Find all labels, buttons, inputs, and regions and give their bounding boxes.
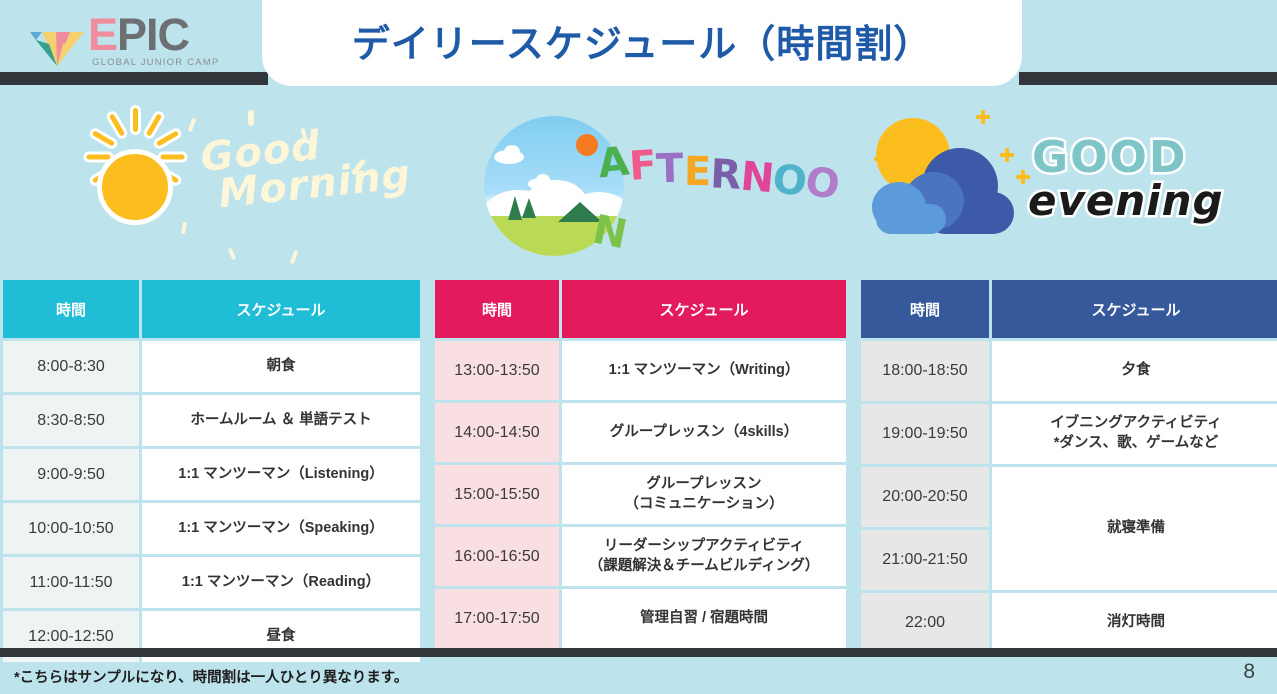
- table-row: 8:00-8:30朝食: [3, 341, 420, 392]
- cell-time: 20:00-20:50: [861, 467, 989, 527]
- cell-time: 16:00-16:50: [435, 527, 559, 586]
- cell-schedule: イブニングアクティビティ*ダンス、歌、ゲームなど: [992, 404, 1277, 464]
- cell-time: 15:00-15:50: [435, 465, 559, 524]
- page-title: デイリースケジュール（時間割）: [352, 13, 932, 86]
- footer-note: *こちらはサンプルになり、時間割は一人ひとり異なります。: [14, 666, 408, 687]
- table-row: 18:00-18:50夕食: [861, 341, 1277, 401]
- afternoon-letter: E: [683, 149, 711, 195]
- header-rule-left: [0, 72, 268, 85]
- cell-time: 13:00-13:50: [435, 341, 559, 400]
- cell-time: 9:00-9:50: [3, 449, 139, 500]
- header-rule-right: [1019, 72, 1277, 85]
- cell-schedule: 1:1 マンツーマン（Reading）: [142, 557, 420, 608]
- column-header-time: 時間: [861, 280, 989, 338]
- afternoon-letter: R: [709, 151, 742, 198]
- table-row: 22:00消灯時間: [861, 593, 1277, 653]
- cell-schedule: ホームルーム ＆ 単語テスト: [142, 395, 420, 446]
- table-row: 15:00-15:50グループレッスン（コミュニケーション）: [435, 465, 846, 524]
- cell-time: 8:00-8:30: [3, 341, 139, 392]
- afternoon-letter: F: [628, 142, 658, 190]
- column-header-schedule: スケジュール: [142, 280, 420, 338]
- cell-schedule: 1:1 マンツーマン（Writing）: [562, 341, 846, 400]
- evening-table-body: 18:00-18:50夕食19:00-19:50イブニングアクティビティ*ダンス…: [861, 341, 1277, 653]
- cell-schedule: グループレッスン（4skills）: [562, 403, 846, 462]
- table-row: 19:00-19:50イブニングアクティビティ*ダンス、歌、ゲームなど: [861, 404, 1277, 464]
- footer-rule: [0, 648, 1277, 657]
- cell-schedule: グループレッスン（コミュニケーション）: [562, 465, 846, 524]
- title-card: デイリースケジュール（時間割）: [262, 0, 1022, 86]
- afternoon-table-body: 13:00-13:501:1 マンツーマン（Writing）14:00-14:5…: [435, 341, 846, 648]
- morning-table-body: 8:00-8:30朝食8:30-8:50ホームルーム ＆ 単語テスト9:00-9…: [3, 341, 420, 662]
- epic-logo: EPIC GLOBAL JUNIOR CAMP: [28, 14, 208, 72]
- cell-schedule: 朝食: [142, 341, 420, 392]
- table-row: 11:00-11:501:1 マンツーマン（Reading）: [3, 557, 420, 608]
- cell-time: 14:00-14:50: [435, 403, 559, 462]
- morning-artwork: Good Morning: [30, 100, 420, 272]
- table-header-row: 時間 スケジュール: [861, 280, 1277, 338]
- brand-letter-e: E: [88, 9, 117, 60]
- table-header-row: 時間 スケジュール: [3, 280, 420, 338]
- cell-schedule: 1:1 マンツーマン（Listening）: [142, 449, 420, 500]
- cell-schedule: 管理自習 / 宿題時間: [562, 589, 846, 648]
- moon-cloud-icon: [860, 100, 1040, 260]
- cell-time: 21:00-21:50: [861, 530, 989, 590]
- cell-schedule: 就寝準備: [992, 467, 1277, 590]
- cell-time: 18:00-18:50: [861, 341, 989, 401]
- afternoon-letter: A: [596, 139, 632, 188]
- afternoon-caption: AFTERNOON: [598, 140, 858, 230]
- cell-time: 19:00-19:50: [861, 404, 989, 464]
- table-row: 9:00-9:501:1 マンツーマン（Listening）: [3, 449, 420, 500]
- cell-schedule: リーダーシップアクティビティ（課題解決＆チームビルディング）: [562, 527, 846, 586]
- table-row: 8:30-8:50ホームルーム ＆ 単語テスト: [3, 395, 420, 446]
- cell-schedule: 夕食: [992, 341, 1277, 401]
- table-header-row: 時間 スケジュール: [435, 280, 846, 338]
- table-row: 10:00-10:501:1 マンツーマン（Speaking）: [3, 503, 420, 554]
- cell-schedule: 消灯時間: [992, 593, 1277, 653]
- evening-schedule-table: 時間 スケジュール 18:00-18:50夕食19:00-19:50イブニングア…: [858, 277, 1277, 656]
- good-evening-line2: evening: [1028, 176, 1224, 225]
- cell-time: 8:30-8:50: [3, 395, 139, 446]
- morning-schedule-table: 時間 スケジュール 8:00-8:30朝食8:30-8:50ホームルーム ＆ 単…: [0, 277, 423, 665]
- table-row: 13:00-13:501:1 マンツーマン（Writing）: [435, 341, 846, 400]
- brand-letters-pic: PIC: [117, 9, 189, 60]
- good-morning-caption: Good Morning: [199, 117, 421, 268]
- diamond-gem-icon: [28, 18, 86, 68]
- table-row: 17:00-17:50管理自習 / 宿題時間: [435, 589, 846, 648]
- afternoon-schedule-table: 時間 スケジュール 13:00-13:501:1 マンツーマン（Writing）…: [432, 277, 849, 651]
- column-header-schedule: スケジュール: [562, 280, 846, 338]
- evening-artwork: GOOD evening: [860, 100, 1240, 272]
- cell-time: 22:00: [861, 593, 989, 653]
- cell-time: 17:00-17:50: [435, 589, 559, 648]
- afternoon-artwork: AFTERNOON: [470, 100, 840, 272]
- page-number: 8: [1243, 660, 1255, 684]
- cell-schedule: 1:1 マンツーマン（Speaking）: [142, 503, 420, 554]
- afternoon-letter: T: [656, 146, 685, 193]
- table-row: 16:00-16:50リーダーシップアクティビティ（課題解決＆チームビルディング…: [435, 527, 846, 586]
- column-header-time: 時間: [3, 280, 139, 338]
- column-header-schedule: スケジュール: [992, 280, 1277, 338]
- column-header-time: 時間: [435, 280, 559, 338]
- table-row: 14:00-14:50グループレッスン（4skills）: [435, 403, 846, 462]
- slide-canvas: EPIC GLOBAL JUNIOR CAMP デイリースケジュール（時間割） …: [0, 0, 1277, 694]
- cell-time: 11:00-11:50: [3, 557, 139, 608]
- cell-time: 10:00-10:50: [3, 503, 139, 554]
- afternoon-letter: O: [802, 158, 843, 209]
- brand-wordmark: EPIC: [88, 12, 189, 57]
- table-row: 20:00-20:50就寝準備: [861, 467, 1277, 527]
- brand-tagline: GLOBAL JUNIOR CAMP: [92, 57, 219, 68]
